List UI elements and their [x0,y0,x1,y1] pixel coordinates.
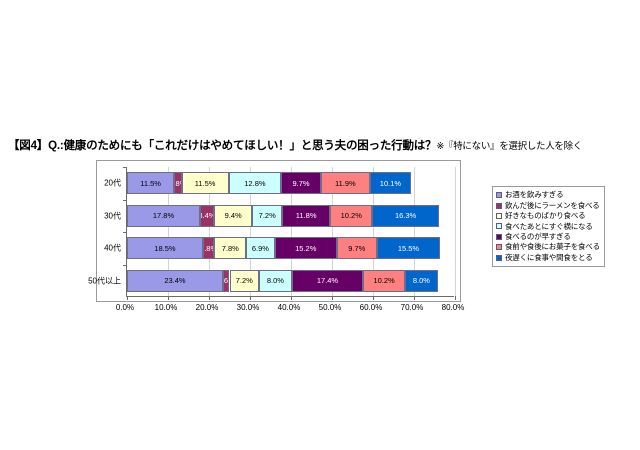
bar-segment[interactable]: 11.5% [182,172,229,194]
y-axis-tick [123,167,127,168]
x-axis-tick [209,296,210,300]
bar-value-label: 6.9% [252,245,269,253]
legend-label: 好きなものばかり食べる [505,212,585,220]
bar-segment[interactable]: 9.7% [281,172,321,194]
bar-value-label: 7.8% [222,245,239,253]
y-axis-tick [123,232,127,233]
x-axis-tick [291,296,292,300]
bar-segment[interactable]: 15.2% [275,237,337,259]
x-axis-label: 70.0% [401,303,424,312]
bar-segment[interactable]: 11.8% [282,205,330,227]
bar-value-label: 11.8% [296,212,317,220]
bar-value-label: 8.0% [267,277,284,285]
bar-segment[interactable]: 17.8% [127,205,200,227]
bar-value-label: 9.7% [292,180,309,188]
bar-value-label: 7.2% [259,212,276,220]
page-title: 【図4】Q.:健康のためにも「これだけはやめてほしい！」と思う夫の困った行動は？… [8,137,582,153]
legend-label: お酒を飲みすぎる [505,191,563,199]
bar-value-label: 16.3% [395,212,416,220]
legend-swatch [496,213,502,219]
bar-value-label: 3.4% [200,212,214,220]
bar-value-label: 9.4% [225,212,242,220]
bar-segment[interactable]: 8.0% [259,270,292,292]
bar-segment[interactable]: 16.3% [372,205,439,227]
x-axis-tick [414,296,415,300]
bar-row: 50代以上23.4%1.6%7.2%8.0%17.4%10.2%8.0% [127,270,455,292]
legend-swatch [496,255,502,261]
legend-swatch [496,192,502,198]
chart-legend: お酒を飲みすぎる飲んだ後にラーメンを食べる好きなものばかり食べる食べたあとにすぐ… [492,186,605,267]
legend-item[interactable]: 食前や食後にお菓子を食べる [496,242,600,252]
legend-label: 飲んだ後にラーメンを食べる [505,202,600,210]
x-axis-label: 50.0% [319,303,342,312]
legend-swatch [496,244,502,250]
bar-segment[interactable]: 12.8% [229,172,281,194]
bar-segment[interactable]: 11.5% [127,172,174,194]
bar-segment[interactable]: 3.4% [200,205,214,227]
x-axis-label: 30.0% [237,303,260,312]
legend-item[interactable]: 食べるのが早すぎる [496,232,600,242]
y-axis-tick [123,265,127,266]
bar-segment[interactable]: 11.9% [321,172,370,194]
bar-segment[interactable]: 7.2% [230,270,260,292]
legend-label: 夜遅くに食事や間食をとる [505,254,593,262]
bar-segment[interactable]: 10.2% [330,205,372,227]
chart-container: 20代11.5%1.8%11.5%12.8%9.7%11.9%10.1%30代1… [96,160,461,302]
bar-segment[interactable]: 15.5% [377,237,441,259]
legend-swatch [496,203,502,209]
bar-value-label: 8.0% [413,277,430,285]
plot-area: 20代11.5%1.8%11.5%12.8%9.7%11.9%10.1%30代1… [97,161,460,301]
x-axis-tick [250,296,251,300]
y-axis-label: 40代 [104,243,121,254]
bar-value-label: 18.5% [154,245,175,253]
x-axis-tick [332,296,333,300]
bar-value-label: 1.8% [174,180,181,188]
bar-segment[interactable]: 8.0% [405,270,438,292]
y-axis-label: 30代 [104,210,121,221]
bar-value-label: 2.8% [203,245,214,253]
legend-item[interactable]: 夜遅くに食事や間食をとる [496,252,600,262]
bar-value-label: 1.6% [223,277,230,285]
bar-value-label: 15.5% [398,245,419,253]
x-axis-label: 80.0% [442,303,465,312]
x-axis-tick [373,296,374,300]
bar-row: 20代11.5%1.8%11.5%12.8%9.7%11.9%10.1% [127,172,455,194]
legend-label: 食べるのが早すぎる [505,233,571,241]
x-axis-label: 10.0% [155,303,178,312]
bar-value-label: 23.4% [164,277,185,285]
bar-value-label: 10.1% [380,180,401,188]
bar-segment[interactable]: 7.8% [214,237,246,259]
x-axis-label: 40.0% [278,303,301,312]
bar-row: 40代18.5%2.8%7.8%6.9%15.2%9.7%15.5% [127,237,455,259]
title-note: ※『特にない』を選択した人を除く [436,141,582,152]
bar-value-label: 11.5% [140,180,161,188]
gridline [455,167,456,296]
legend-item[interactable]: お酒を飲みすぎる [496,190,600,200]
bar-value-label: 7.2% [236,277,253,285]
x-axis-label: 20.0% [196,303,219,312]
y-axis-label: 20代 [104,178,121,189]
bar-value-label: 9.7% [348,245,365,253]
x-axis-label: 60.0% [360,303,383,312]
legend-label: 食べたあとにすぐ横になる [505,223,593,231]
bar-segment[interactable]: 17.4% [292,270,363,292]
y-axis-tick [123,200,127,201]
x-axis-label: 0.0% [116,303,134,312]
legend-item[interactable]: 食べたあとにすぐ横になる [496,221,600,231]
legend-swatch [496,223,502,229]
bar-segment[interactable]: 9.4% [214,205,253,227]
bar-value-label: 17.8% [153,212,174,220]
bar-segment[interactable]: 1.8% [174,172,181,194]
bar-value-label: 11.5% [195,180,216,188]
legend-swatch [496,234,502,240]
y-axis-label: 50代以上 [88,275,121,286]
plot-inner: 20代11.5%1.8%11.5%12.8%9.7%11.9%10.1%30代1… [126,167,454,297]
bar-segment[interactable]: 23.4% [127,270,223,292]
bar-segment[interactable]: 6.9% [246,237,274,259]
bar-segment[interactable]: 10.1% [370,172,411,194]
title-main: 【図4】Q.:健康のためにも「これだけはやめてほしい！」と思う夫の困った行動は？ [8,140,436,152]
bar-segment[interactable]: 7.2% [252,205,282,227]
bar-value-label: 17.4% [317,277,338,285]
bar-value-label: 12.8% [244,180,265,188]
x-axis-tick [168,296,169,300]
legend-item[interactable]: 好きなものばかり食べる [496,211,600,221]
bar-value-label: 15.2% [295,245,316,253]
x-axis-tick [455,296,456,300]
legend-label: 食前や食後にお菓子を食べる [505,243,600,251]
bar-segment[interactable]: 2.8% [203,237,214,259]
bar-segment[interactable]: 1.6% [223,270,230,292]
x-axis-labels: 0.0%10.0%20.0%30.0%40.0%50.0%60.0%70.0%8… [96,303,461,317]
x-axis-tick [127,296,128,300]
legend-item[interactable]: 飲んだ後にラーメンを食べる [496,200,600,210]
bar-value-label: 10.2% [373,277,394,285]
bar-value-label: 11.9% [335,180,356,188]
bar-row: 30代17.8%3.4%9.4%7.2%11.8%10.2%16.3% [127,205,455,227]
bar-segment[interactable]: 10.2% [363,270,405,292]
bar-segment[interactable]: 9.7% [337,237,377,259]
bar-value-label: 10.2% [341,212,362,220]
bar-segment[interactable]: 18.5% [127,237,203,259]
